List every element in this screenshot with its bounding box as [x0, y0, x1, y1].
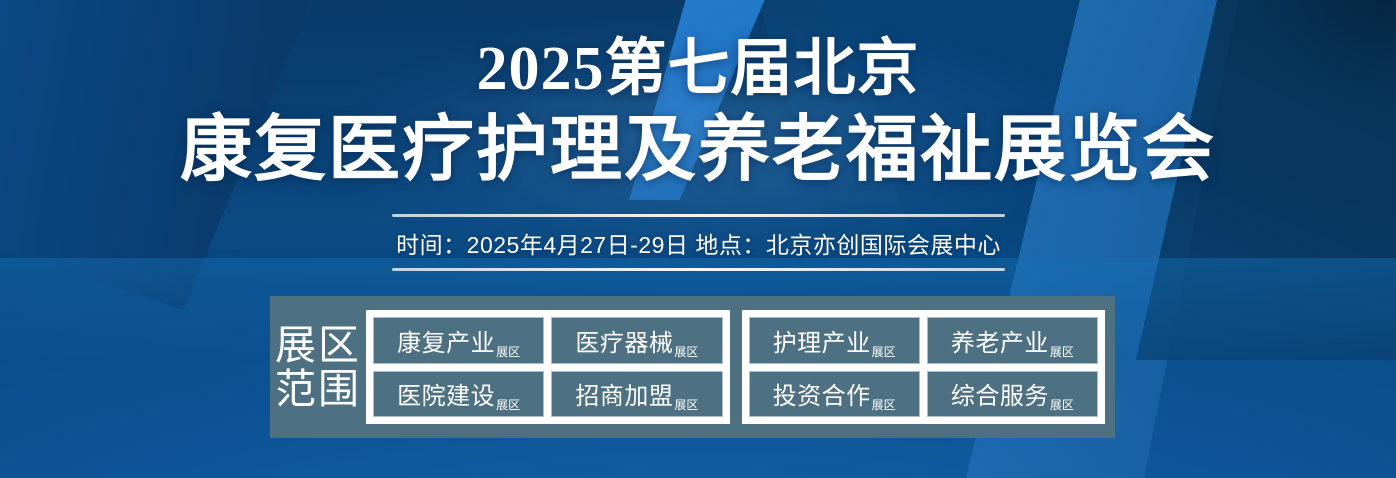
zone-tag-name: 招商加盟: [575, 376, 673, 411]
zone-tag-name: 医院建设: [397, 376, 495, 411]
zone-group-1: 康复产业展区 医疗器械展区 医院建设展区 招商加盟展区: [366, 310, 730, 424]
zone-tag[interactable]: 医疗器械展区: [551, 317, 722, 364]
zone-tag-name: 综合服务: [951, 376, 1049, 411]
zone-tag-suffix: 展区: [872, 343, 896, 363]
banner-subtitle: 时间：2025年4月27日-29日 地点：北京亦创国际会展中心: [392, 217, 1005, 268]
banner-content: 2025第七届北京 康复医疗护理及养老福祉展览会 时间：2025年4月27日-2…: [0, 0, 1396, 478]
zone-tag[interactable]: 康复产业展区: [373, 317, 544, 364]
subtitle-rule-bottom: [392, 268, 1005, 271]
zones-groups: 康复产业展区 医疗器械展区 医院建设展区 招商加盟展区 护理产业展区: [366, 310, 1105, 424]
zone-tag[interactable]: 医院建设展区: [373, 371, 544, 418]
zone-tag[interactable]: 护理产业展区: [749, 317, 920, 364]
zones-panel-label: 展区 范围: [270, 323, 366, 412]
zone-tag-suffix: 展区: [872, 396, 896, 416]
zone-tag[interactable]: 养老产业展区: [927, 317, 1098, 364]
exhibition-zones-panel: 展区 范围 康复产业展区 医疗器械展区 医院建设展区 招商加盟展区: [270, 296, 1115, 438]
zone-tag-name: 养老产业: [951, 323, 1049, 358]
zone-tag-suffix: 展区: [1050, 396, 1074, 416]
zone-tag-name: 投资合作: [773, 376, 871, 411]
zone-tag-suffix: 展区: [496, 396, 520, 416]
zone-tag[interactable]: 投资合作展区: [749, 371, 920, 418]
banner-title-line-1: 2025第七届北京: [0, 38, 1396, 100]
exhibition-banner: 2025第七届北京 康复医疗护理及养老福祉展览会 时间：2025年4月27日-2…: [0, 0, 1396, 478]
zone-tag[interactable]: 招商加盟展区: [551, 371, 722, 418]
banner-title-block: 2025第七届北京 康复医疗护理及养老福祉展览会: [0, 38, 1396, 186]
zone-tag-name: 护理产业: [773, 323, 871, 358]
banner-title-line-2: 康复医疗护理及养老福祉展览会: [0, 114, 1396, 186]
zones-label-line-2: 范围: [270, 367, 366, 411]
zones-label-line-1: 展区: [270, 323, 366, 367]
banner-subtitle-block: 时间：2025年4月27日-29日 地点：北京亦创国际会展中心: [392, 214, 1005, 271]
zone-tag-suffix: 展区: [674, 396, 698, 416]
zone-group-2: 护理产业展区 养老产业展区 投资合作展区 综合服务展区: [742, 310, 1106, 424]
zone-tag-name: 康复产业: [397, 323, 495, 358]
zone-tag-suffix: 展区: [496, 343, 520, 363]
zone-tag-suffix: 展区: [674, 343, 698, 363]
zone-tag-name: 医疗器械: [575, 323, 673, 358]
zone-tag-suffix: 展区: [1050, 343, 1074, 363]
zone-tag[interactable]: 综合服务展区: [927, 371, 1098, 418]
